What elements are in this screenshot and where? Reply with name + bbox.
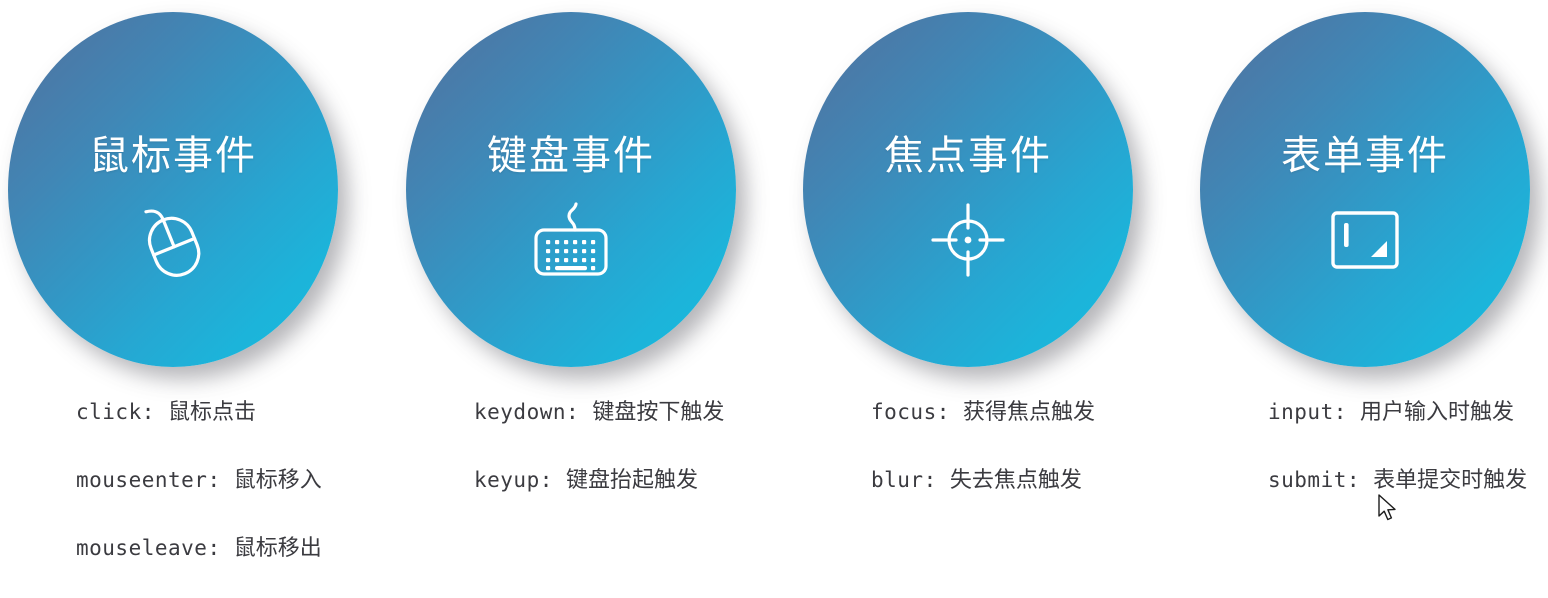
circle-badge-form[interactable]: 表单事件 [1200, 12, 1530, 367]
circle-badge-keyboard[interactable]: 键盘事件 [406, 12, 736, 367]
event-name: click [76, 400, 142, 424]
event-row: keyup: 键盘抬起触发 [474, 460, 804, 528]
event-desc: 鼠标移入 [234, 467, 322, 492]
event-card-mouse: 鼠标事件 click: 鼠标点击 mou [0, 0, 398, 598]
event-name: keyup [474, 468, 540, 492]
event-colon: : [207, 468, 233, 492]
circle-badge-mouse[interactable]: 鼠标事件 [8, 12, 338, 367]
event-colon: : [1347, 468, 1373, 492]
event-desc: 失去焦点触发 [950, 467, 1082, 492]
event-colon: : [540, 468, 566, 492]
event-row: mouseleave: 鼠标移出 [76, 528, 406, 596]
event-list-form: input: 用户输入时触发 submit: 表单提交时触发 [1268, 392, 1548, 528]
event-name: mouseenter [76, 468, 207, 492]
event-colon: : [937, 400, 963, 424]
event-list-keyboard: keydown: 键盘按下触发 keyup: 键盘抬起触发 [474, 392, 804, 528]
event-row: keydown: 键盘按下触发 [474, 392, 804, 460]
slide-canvas: 鼠标事件 click: 鼠标点击 mou [0, 0, 1548, 598]
event-row: blur: 失去焦点触发 [871, 460, 1201, 528]
event-colon: : [1334, 400, 1360, 424]
event-row: mouseenter: 鼠标移入 [76, 460, 406, 528]
event-row: focus: 获得焦点触发 [871, 392, 1201, 460]
event-list-mouse: click: 鼠标点击 mouseenter: 鼠标移入 mouseleave:… [76, 392, 406, 596]
event-name: keydown [474, 400, 566, 424]
event-row: click: 鼠标点击 [76, 392, 406, 460]
event-name: mouseleave [76, 536, 207, 560]
event-colon: : [924, 468, 950, 492]
circle-content: 键盘事件 [406, 12, 736, 367]
mouse-icon [127, 200, 219, 280]
circle-content: 焦点事件 [803, 12, 1133, 367]
event-card-form: 表单事件 input: 用户输入时触发 submit: 表单提交时触发 [1192, 0, 1548, 598]
keyboard-icon [525, 200, 617, 280]
circle-badge-focus[interactable]: 焦点事件 [803, 12, 1133, 367]
event-name: submit [1268, 468, 1347, 492]
circle-title: 表单事件 [1281, 132, 1449, 180]
circle-content: 鼠标事件 [8, 12, 338, 367]
event-name: blur [871, 468, 924, 492]
event-row: submit: 表单提交时触发 [1268, 460, 1548, 528]
event-card-focus: 焦点事件 focus: 获得 [795, 0, 1193, 598]
event-colon: : [207, 536, 233, 560]
circle-title: 键盘事件 [487, 132, 655, 180]
event-desc: 鼠标移出 [234, 535, 322, 560]
event-desc: 获得焦点触发 [963, 399, 1095, 424]
event-desc: 用户输入时触发 [1360, 399, 1514, 424]
event-name: input [1268, 400, 1334, 424]
event-desc: 鼠标点击 [168, 399, 256, 424]
circle-content: 表单事件 [1200, 12, 1530, 367]
circle-title: 鼠标事件 [89, 132, 257, 180]
circle-title: 焦点事件 [884, 132, 1052, 180]
event-colon: : [142, 400, 168, 424]
event-card-keyboard: 键盘事件 [398, 0, 796, 598]
event-row: input: 用户输入时触发 [1268, 392, 1548, 460]
event-desc: 键盘按下触发 [592, 399, 724, 424]
event-list-focus: focus: 获得焦点触发 blur: 失去焦点触发 [871, 392, 1201, 528]
event-desc: 表单提交时触发 [1373, 467, 1527, 492]
event-name: focus [871, 400, 937, 424]
form-input-icon [1319, 200, 1411, 280]
event-desc: 键盘抬起触发 [566, 467, 698, 492]
crosshair-target-icon [922, 200, 1014, 280]
event-colon: : [566, 400, 592, 424]
